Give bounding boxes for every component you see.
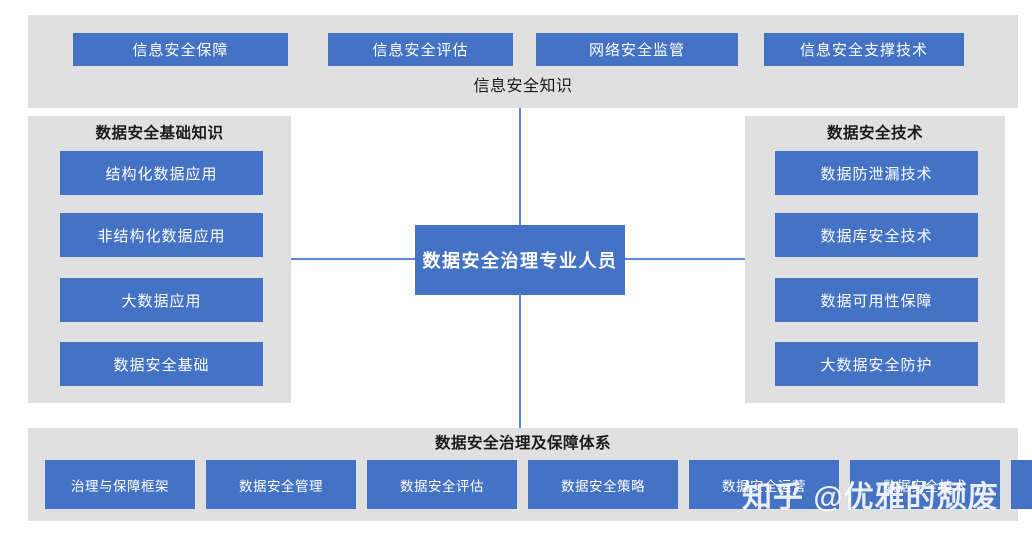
connector-left-to-center: [291, 258, 415, 260]
node-bottom-4[interactable]: 数据安全运营: [689, 460, 839, 509]
node-bottom-3[interactable]: 数据安全策略: [528, 460, 678, 509]
panel-data-security-technology: 数据安全技术 数据防泄漏技术 数据库安全技术 数据可用性保障 大数据安全防护: [745, 116, 1005, 403]
node-bottom-5[interactable]: 数据安全技术: [850, 460, 1000, 509]
node-bottom-2[interactable]: 数据安全评估: [367, 460, 517, 509]
node-top-3[interactable]: 信息安全支撑技术: [764, 33, 964, 66]
node-right-2[interactable]: 数据可用性保障: [775, 278, 978, 322]
node-bottom-6[interactable]: 合规评测: [1011, 460, 1032, 509]
node-left-0[interactable]: 结构化数据应用: [60, 151, 263, 195]
connector-center-to-right: [625, 258, 745, 260]
diagram-canvas: 信息安全保障 信息安全评估 网络安全监管 信息安全支撑技术 信息安全知识 数据安…: [0, 0, 1032, 541]
connector-top-to-center: [519, 108, 521, 228]
node-left-2[interactable]: 大数据应用: [60, 278, 263, 322]
panel-title-data-security-governance-system: 数据安全治理及保障体系: [28, 434, 1018, 454]
panel-title-data-security-fundamentals: 数据安全基础知识: [28, 124, 291, 144]
panel-data-security-fundamentals: 数据安全基础知识 结构化数据应用 非结构化数据应用 大数据应用 数据安全基础: [28, 116, 291, 403]
node-right-3[interactable]: 大数据安全防护: [775, 342, 978, 386]
node-top-1[interactable]: 信息安全评估: [328, 33, 513, 66]
panel-information-security-knowledge: 信息安全保障 信息安全评估 网络安全监管 信息安全支撑技术 信息安全知识: [28, 15, 1018, 108]
panel-data-security-governance-system: 数据安全治理及保障体系 治理与保障框架 数据安全管理 数据安全评估 数据安全策略…: [28, 428, 1018, 521]
node-bottom-0[interactable]: 治理与保障框架: [45, 460, 195, 509]
node-left-1[interactable]: 非结构化数据应用: [60, 213, 263, 257]
node-left-3[interactable]: 数据安全基础: [60, 342, 263, 386]
panel-title-data-security-technology: 数据安全技术: [745, 124, 1005, 144]
node-top-0[interactable]: 信息安全保障: [73, 33, 288, 66]
node-right-0[interactable]: 数据防泄漏技术: [775, 151, 978, 195]
node-top-2[interactable]: 网络安全监管: [536, 33, 738, 66]
node-bottom-1[interactable]: 数据安全管理: [206, 460, 356, 509]
node-center-data-security-professional[interactable]: 数据安全治理专业人员: [415, 225, 625, 295]
panel-title-information-security-knowledge: 信息安全知识: [28, 77, 1018, 97]
connector-center-to-bottom: [519, 292, 521, 428]
node-right-1[interactable]: 数据库安全技术: [775, 213, 978, 257]
